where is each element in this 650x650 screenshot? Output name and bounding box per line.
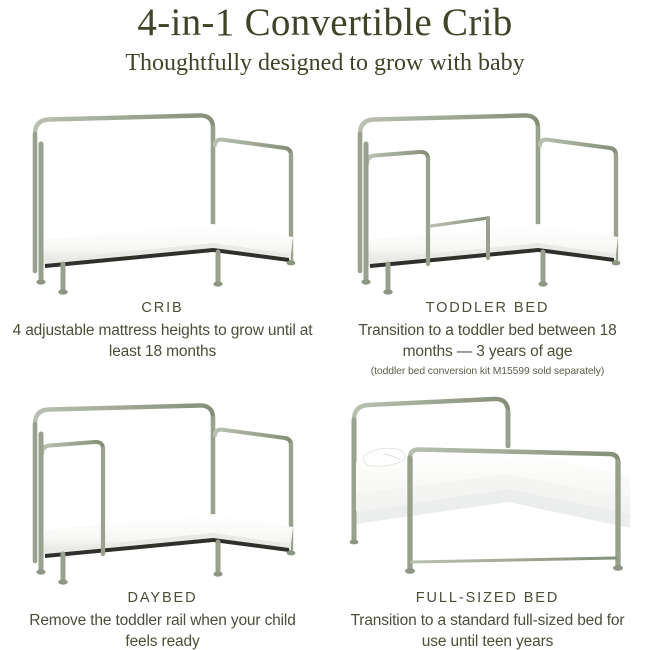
caption-crib: CRIB 4 adjustable mattress heights to gr… [13, 298, 313, 364]
product-conversion-infographic: 4-in-1 Convertible Crib Thoughtfully des… [0, 0, 650, 650]
caption-description: 4 adjustable mattress heights to grow un… [13, 321, 313, 362]
toddler-bed-svg [338, 104, 638, 296]
header: 4-in-1 Convertible Crib Thoughtfully des… [0, 0, 650, 79]
conversion-grid: CRIB 4 adjustable mattress heights to gr… [0, 104, 650, 650]
daybed-svg [13, 394, 313, 586]
page-title: 4-in-1 Convertible Crib [0, 2, 650, 44]
caption-daybed: DAYBED Remove the toddler rail when your… [13, 588, 313, 650]
crib-svg [13, 104, 313, 296]
panel-daybed: DAYBED Remove the toddler rail when your… [0, 394, 325, 650]
full-sized-bed-svg [338, 394, 638, 586]
panel-full-sized-bed: FULL-SIZED BED Transition to a standard … [325, 394, 650, 650]
caption-note: (toddler bed conversion kit M15599 sold … [338, 364, 638, 380]
daybed-illustration [13, 394, 313, 586]
page-subtitle: Thoughtfully designed to grow with baby [0, 48, 650, 79]
caption-description: Transition to a toddler bed between 18 m… [338, 321, 638, 362]
panel-crib: CRIB 4 adjustable mattress heights to gr… [0, 104, 325, 394]
caption-description: Remove the toddler rail when your child … [13, 611, 313, 650]
panel-toddler-bed: TODDLER BED Transition to a toddler bed … [325, 104, 650, 394]
caption-description: Transition to a standard full-sized bed … [338, 611, 638, 650]
toddler-bed-illustration [338, 104, 638, 296]
caption-title: TODDLER BED [338, 298, 638, 318]
caption-title: DAYBED [13, 588, 313, 608]
caption-title: CRIB [13, 298, 313, 318]
caption-toddler-bed: TODDLER BED Transition to a toddler bed … [338, 298, 638, 380]
caption-title: FULL-SIZED BED [338, 588, 638, 608]
crib-illustration [13, 104, 313, 296]
caption-full-sized-bed: FULL-SIZED BED Transition to a standard … [338, 588, 638, 650]
full-sized-bed-illustration [338, 394, 638, 586]
